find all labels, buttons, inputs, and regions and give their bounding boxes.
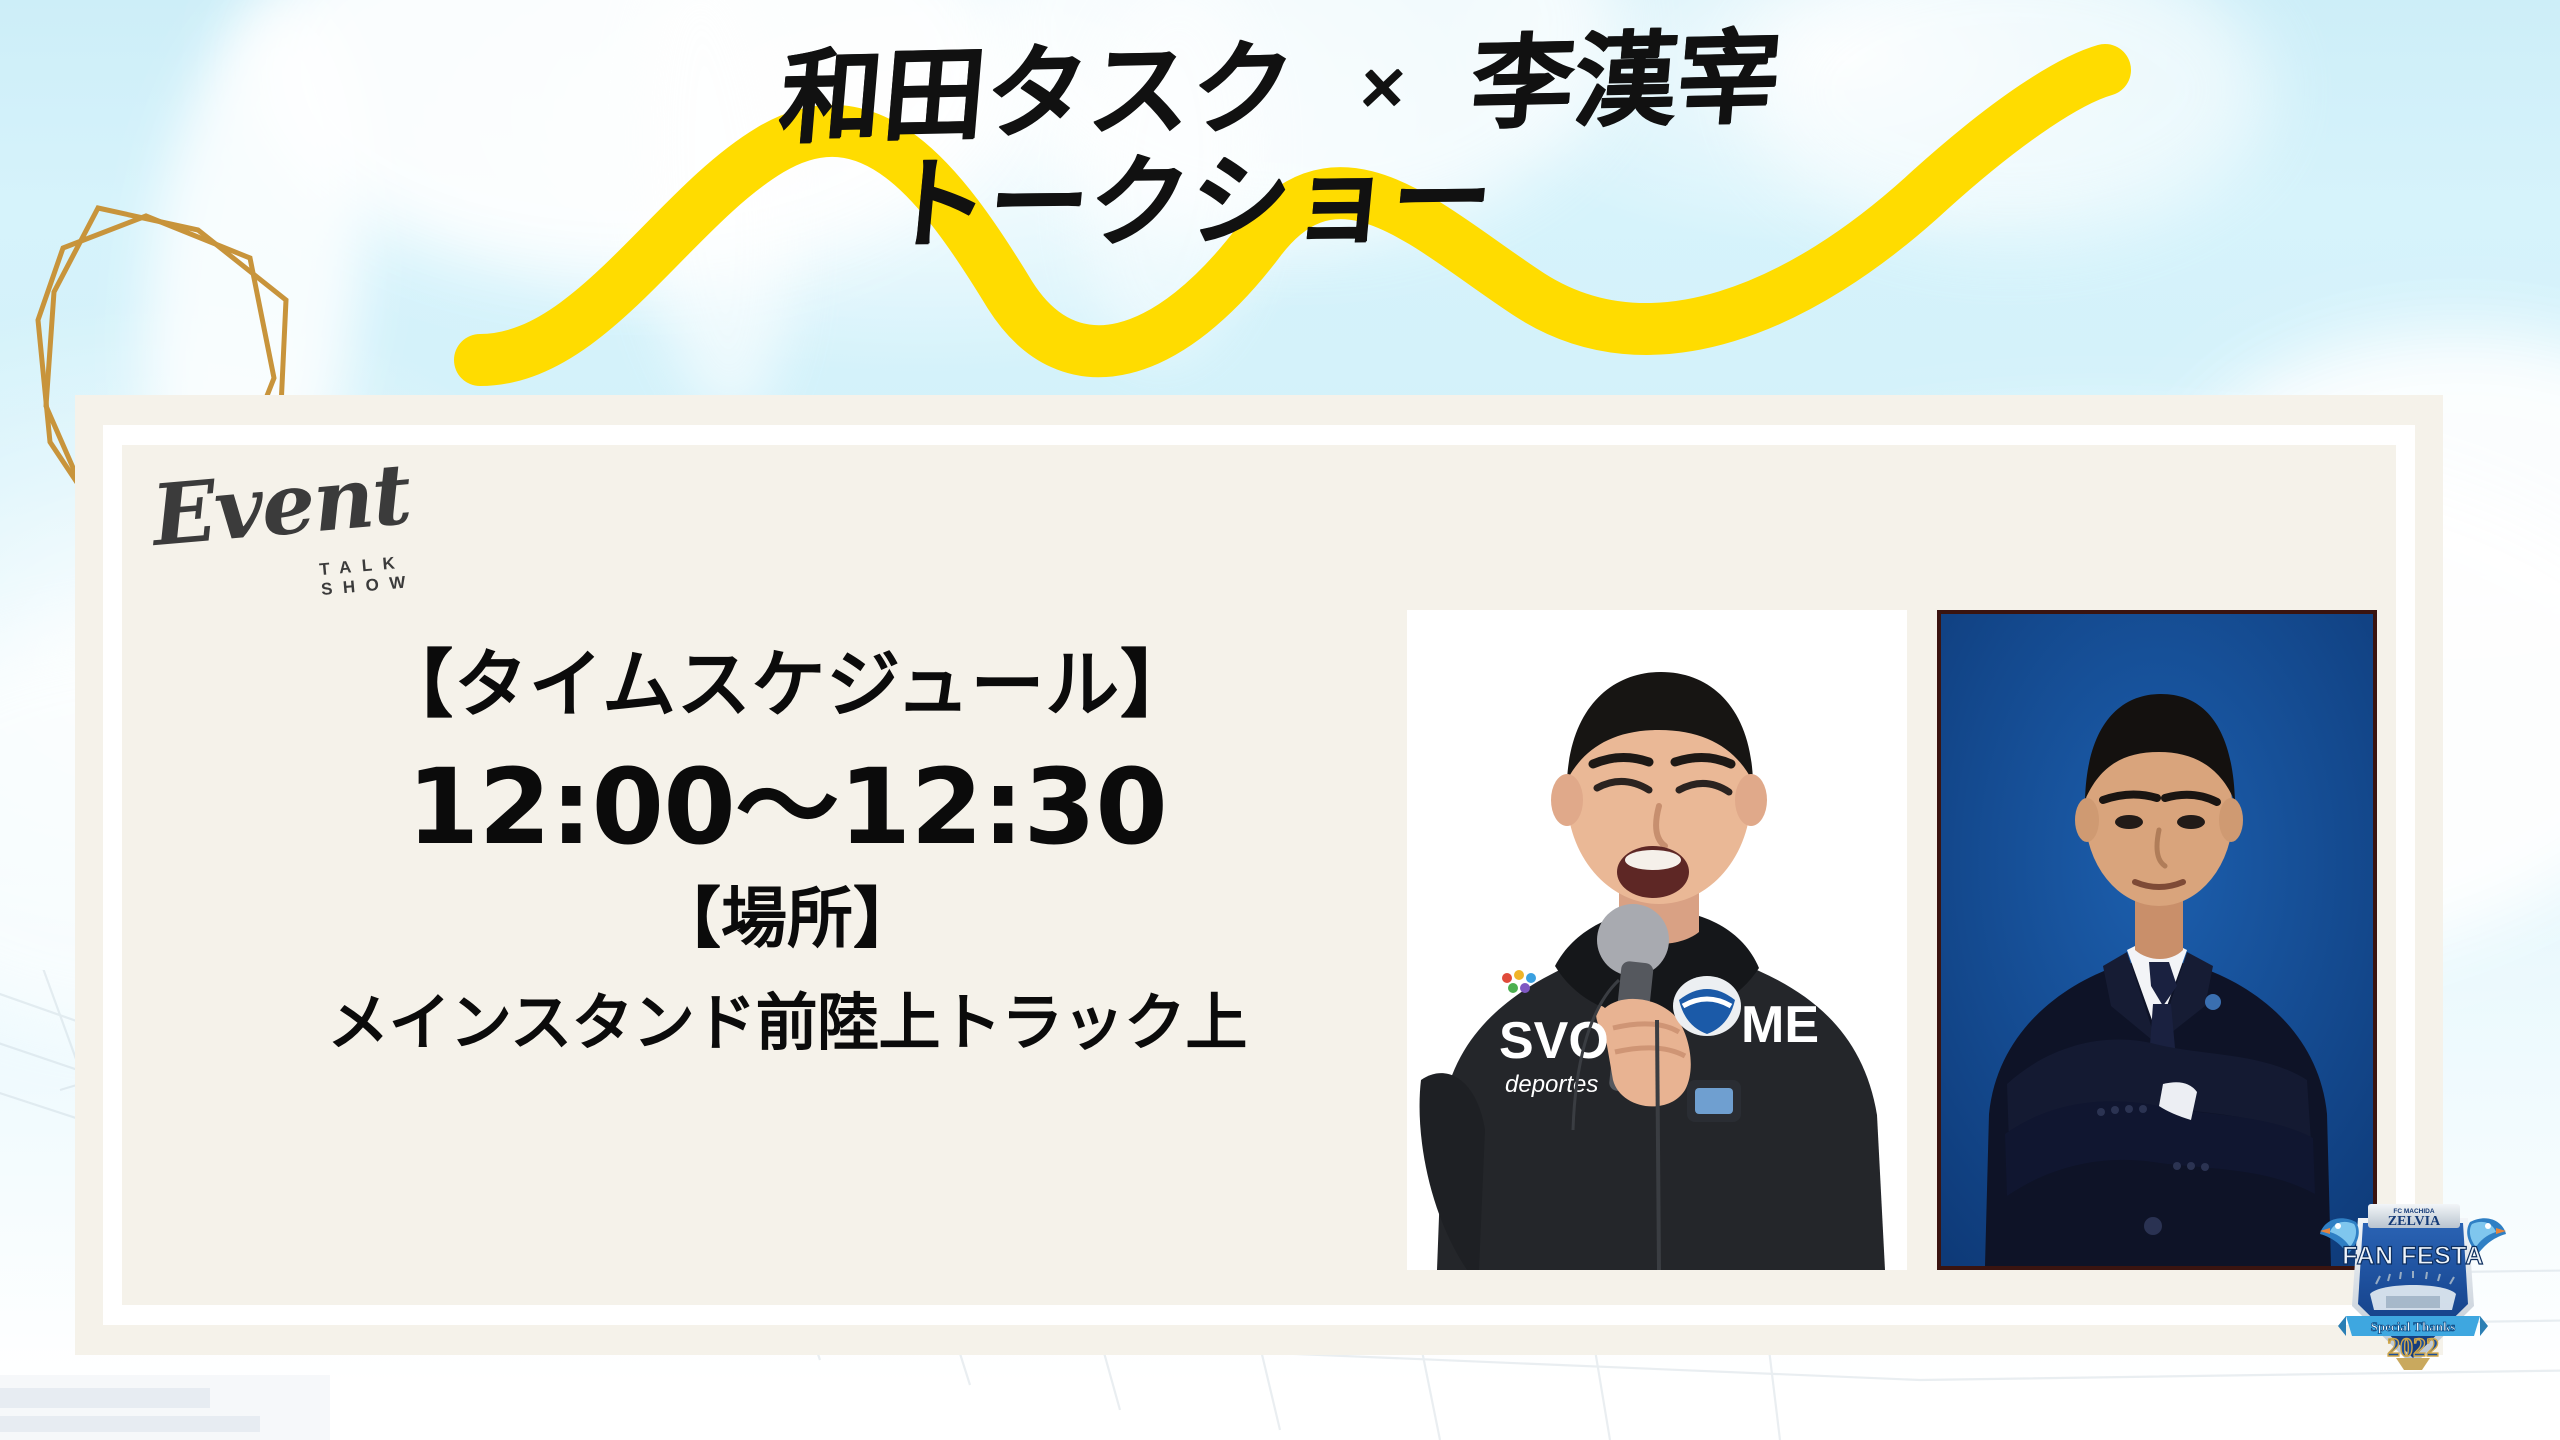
fanfesta-ribbon: Special Thanks <box>2371 1319 2456 1334</box>
fanfesta-club-name: ZELVIA <box>2388 1214 2441 1229</box>
place-value: メインスタンド前陸上トラック上 <box>212 984 1362 1062</box>
speaker-name-2: 李漢宰 <box>1467 19 1786 144</box>
cross-symbol: × <box>1327 48 1438 123</box>
fanfesta-year: 2022 <box>2387 1333 2439 1362</box>
photo-speaker-with-microphone: SVO ME deportes deportes <box>1407 610 1907 1270</box>
fanfesta-title: FAN FESTA <box>2342 1242 2484 1270</box>
schedule-time: 12:00〜12:30 <box>212 744 1362 871</box>
card-inner-panel: Event TALK SHOW 【タイムスケジュール】 12:00〜12:30 … <box>122 445 2396 1305</box>
speaker-name-1: 和田タスク <box>775 29 1299 159</box>
event-info-block: 【タイムスケジュール】 12:00〜12:30 【場所】 メインスタンド前陸上ト… <box>212 645 1362 1062</box>
event-badge: Event TALK SHOW <box>152 455 482 615</box>
poster-canvas: 和田タスク × 李漢宰 トークショー Event TALK SHOW <box>0 0 2560 1440</box>
fan-festa-logo: FC MACHIDA ZELVIA FAN FESTA Special Than… <box>2318 1198 2508 1383</box>
svg-text:deportes: deportes <box>1854 970 1876 1054</box>
event-script-label: Event <box>148 444 413 565</box>
svg-text:ME: ME <box>1741 996 1819 1054</box>
event-sub-label: TALK SHOW <box>319 546 484 600</box>
place-heading: 【場所】 <box>212 879 1362 958</box>
content-card: Event TALK SHOW 【タイムスケジュール】 12:00〜12:30 … <box>75 395 2443 1355</box>
card-white-frame: Event TALK SHOW 【タイムスケジュール】 12:00〜12:30 … <box>103 425 2415 1325</box>
poster-headline: 和田タスク × 李漢宰 トークショー <box>0 38 2560 252</box>
svg-text:deportes: deportes <box>1505 1071 1598 1098</box>
photo-suited-man-arms-crossed <box>1937 610 2377 1270</box>
schedule-heading: 【タイムスケジュール】 <box>212 645 1362 726</box>
